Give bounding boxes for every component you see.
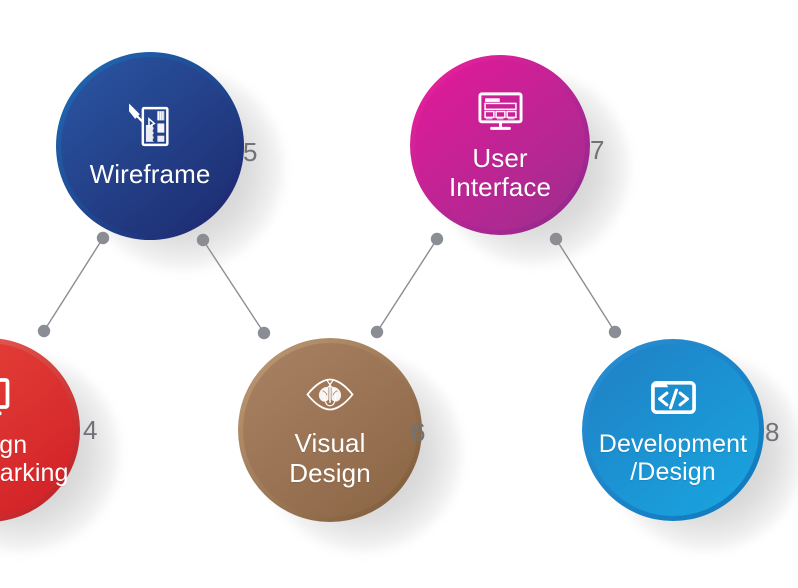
step-number-user-interface: 7	[590, 137, 604, 163]
connector-visual-design-to-user-interface	[371, 233, 443, 338]
connector-wireframe-to-benchmarking	[38, 232, 109, 337]
infographic-canvas: Design Benchmarking Wireframe Visual Des…	[0, 0, 798, 588]
process-node-design-benchmarking[interactable]: Design Benchmarking	[0, 338, 80, 522]
code-window-icon	[650, 374, 697, 421]
connector-dot	[371, 326, 383, 338]
process-node-user-interface[interactable]: User Interface	[410, 55, 590, 235]
connector-line	[44, 238, 103, 331]
process-node-wireframe[interactable]: Wireframe	[56, 52, 244, 240]
step-number-design-benchmarking: 4	[83, 417, 97, 443]
process-node-development-design[interactable]: Development /Design	[582, 339, 764, 521]
monitor-screen-icon	[0, 374, 12, 422]
node-label-wireframe: Wireframe	[90, 160, 211, 189]
connector-dot	[609, 326, 621, 338]
eye-butterfly-icon	[306, 372, 354, 420]
node-label-user-interface: User Interface	[449, 144, 551, 202]
wireframe-sketch-icon	[126, 102, 175, 151]
step-number-visual-design: 6	[411, 419, 425, 445]
node-label-development-design: Development /Design	[599, 430, 747, 486]
node-label-visual-design: Visual Design	[289, 429, 371, 487]
process-node-visual-design[interactable]: Visual Design	[238, 338, 422, 522]
node-label-design-benchmarking: Design Benchmarking	[0, 431, 69, 487]
step-number-development-design: 8	[765, 419, 779, 445]
connector-dot	[38, 325, 50, 337]
monitor-layout-icon	[477, 88, 524, 135]
step-number-wireframe: 5	[243, 139, 257, 165]
node-face: User Interface	[415, 60, 585, 230]
node-face: Wireframe	[61, 57, 239, 235]
node-face: Development /Design	[587, 344, 759, 516]
connector-line	[377, 239, 437, 332]
node-face: Visual Design	[243, 343, 417, 517]
node-face: Design Benchmarking	[0, 343, 75, 517]
